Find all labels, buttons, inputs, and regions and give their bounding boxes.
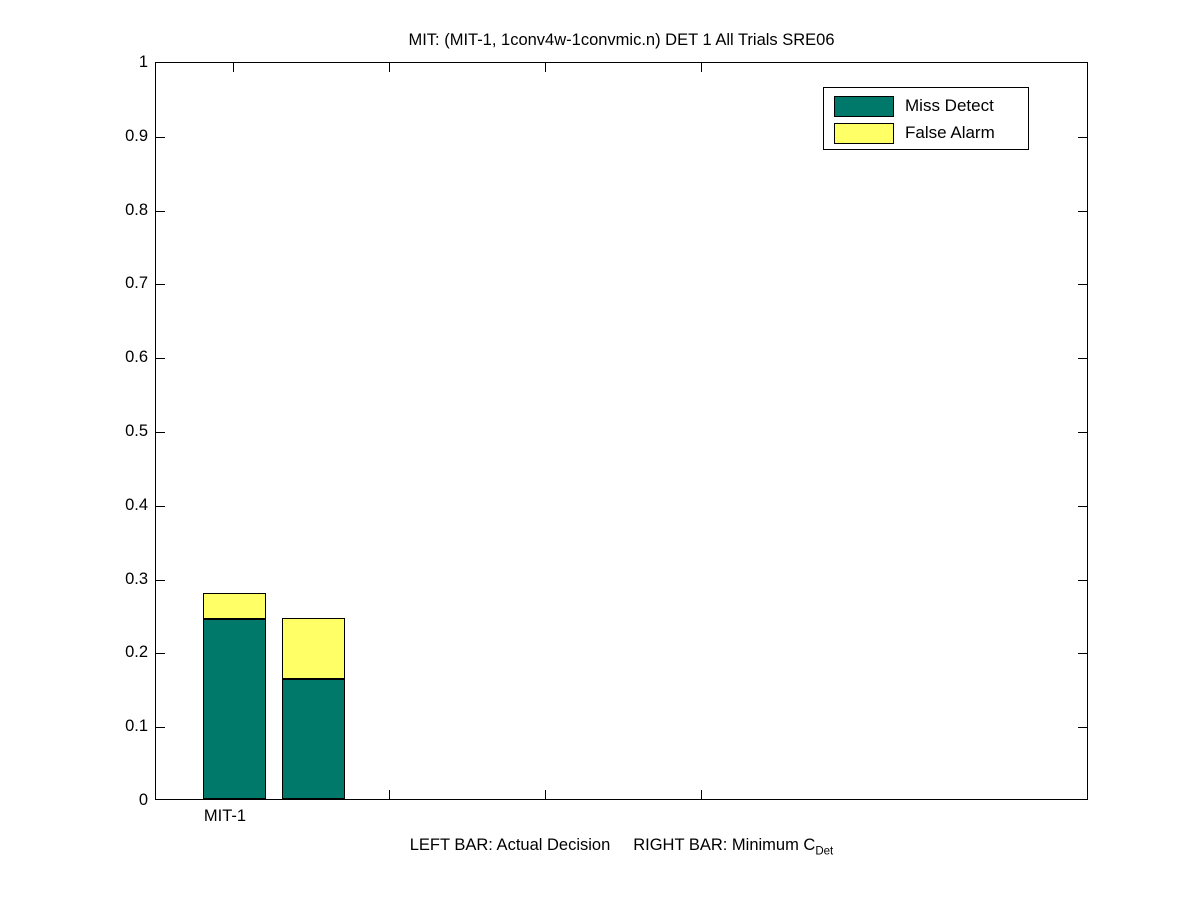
x-tick-mark-3 <box>545 790 546 799</box>
y-tick-label-0-3: 0.3 <box>96 571 148 587</box>
legend-swatch-false-alarm <box>834 123 894 144</box>
y-tick-label-1: 1 <box>96 54 148 70</box>
caption-right-text: RIGHT BAR: Minimum C <box>633 836 815 854</box>
y-tick-label-0-8: 0.8 <box>96 202 148 218</box>
x-tick-mark-top-3 <box>545 63 546 72</box>
y-tick-mark-right-0-3 <box>1078 580 1087 581</box>
x-axis-tick-labels: MIT-1 <box>155 806 1088 830</box>
y-tick-label-0-1: 0.1 <box>96 718 148 734</box>
y-tick-mark-0-8 <box>156 211 165 212</box>
page-title: MIT: (MIT-1, 1conv4w-1convmic.n) DET 1 A… <box>155 30 1088 50</box>
y-tick-mark-right-0-7 <box>1078 284 1087 285</box>
y-tick-label-0-9: 0.9 <box>96 128 148 144</box>
bar-actual-decision[interactable] <box>203 593 266 799</box>
legend-item-false-alarm[interactable]: False Alarm <box>834 121 995 145</box>
y-tick-label-0-7: 0.7 <box>96 275 148 291</box>
y-tick-mark-0-9 <box>156 137 165 138</box>
bar-segment-miss-detect-mindet[interactable] <box>282 679 345 799</box>
y-tick-mark-right-0-4 <box>1078 506 1087 507</box>
legend-label-false-alarm: False Alarm <box>905 123 995 143</box>
caption-gap <box>610 836 633 854</box>
y-tick-label-0-4: 0.4 <box>96 497 148 513</box>
y-tick-mark-right-0-6 <box>1078 358 1087 359</box>
y-tick-mark-right-0-1 <box>1078 727 1087 728</box>
x-tick-mark-top-4 <box>701 63 702 72</box>
caption-right-subscript: Det <box>815 845 833 857</box>
chart-caption: LEFT BAR: Actual Decision RIGHT BAR: Min… <box>155 834 1088 856</box>
y-tick-mark-right-0-8 <box>1078 211 1087 212</box>
y-tick-mark-right-0-5 <box>1078 432 1087 433</box>
y-tick-mark-0-1 <box>156 727 165 728</box>
x-tick-mark-4 <box>701 790 702 799</box>
y-tick-label-0-6: 0.6 <box>96 349 148 365</box>
y-tick-mark-0-6 <box>156 358 165 359</box>
bar-segment-miss-detect-actual[interactable] <box>203 619 266 799</box>
y-tick-mark-right-0-9 <box>1078 137 1087 138</box>
x-tick-mark-top-1 <box>233 63 234 72</box>
y-axis-tick-labels: 0 0.1 0.2 0.3 0.4 0.5 0.6 0.7 0.8 0.9 1 <box>96 62 148 800</box>
y-tick-label-0: 0 <box>96 792 148 808</box>
y-tick-mark-0-7 <box>156 284 165 285</box>
legend-swatch-miss-detect <box>834 96 894 117</box>
y-tick-label-0-2: 0.2 <box>96 644 148 660</box>
legend-label-miss-detect: Miss Detect <box>905 96 994 116</box>
bar-minimum-cdet[interactable] <box>282 618 345 799</box>
plot-area: Miss Detect False Alarm <box>155 62 1088 800</box>
figure-canvas: MIT: (MIT-1, 1conv4w-1convmic.n) DET 1 A… <box>0 0 1201 900</box>
y-tick-mark-0-2 <box>156 653 165 654</box>
y-tick-mark-right-0-2 <box>1078 653 1087 654</box>
plot-inner <box>156 63 1087 799</box>
y-tick-mark-0-4 <box>156 506 165 507</box>
caption-left-text: LEFT BAR: Actual Decision <box>410 836 611 854</box>
bar-segment-false-alarm-actual[interactable] <box>203 593 266 619</box>
y-tick-mark-0-5 <box>156 432 165 433</box>
legend[interactable]: Miss Detect False Alarm <box>823 87 1029 150</box>
x-tick-mark-top-2 <box>389 63 390 72</box>
x-tick-mark-2 <box>389 790 390 799</box>
y-tick-mark-0-3 <box>156 580 165 581</box>
x-tick-label-mit-1: MIT-1 <box>204 806 246 826</box>
bar-segment-false-alarm-mindet[interactable] <box>282 618 345 679</box>
legend-item-miss-detect[interactable]: Miss Detect <box>834 94 994 118</box>
y-tick-label-0-5: 0.5 <box>96 423 148 439</box>
